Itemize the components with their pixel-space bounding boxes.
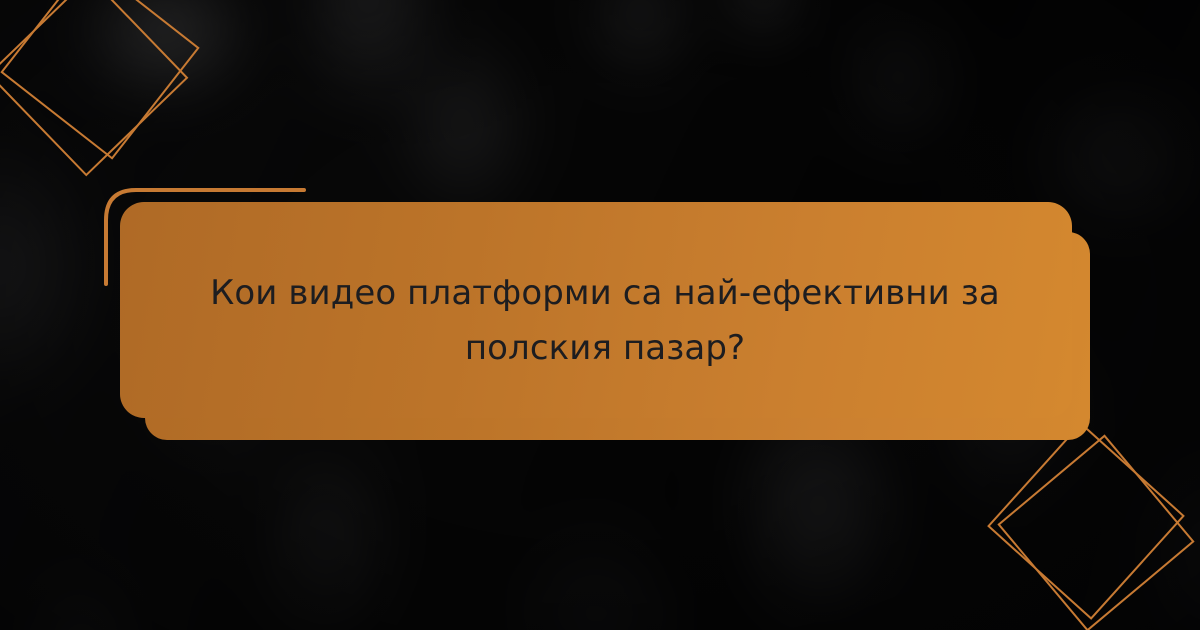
quote-card-canvas: Кои видео платформи са най-ефективни за … <box>0 0 1200 630</box>
page-title: Кои видео платформи са най-ефективни за … <box>210 266 1000 376</box>
headline-container: Кои видео платформи са най-ефективни за … <box>120 202 1090 440</box>
